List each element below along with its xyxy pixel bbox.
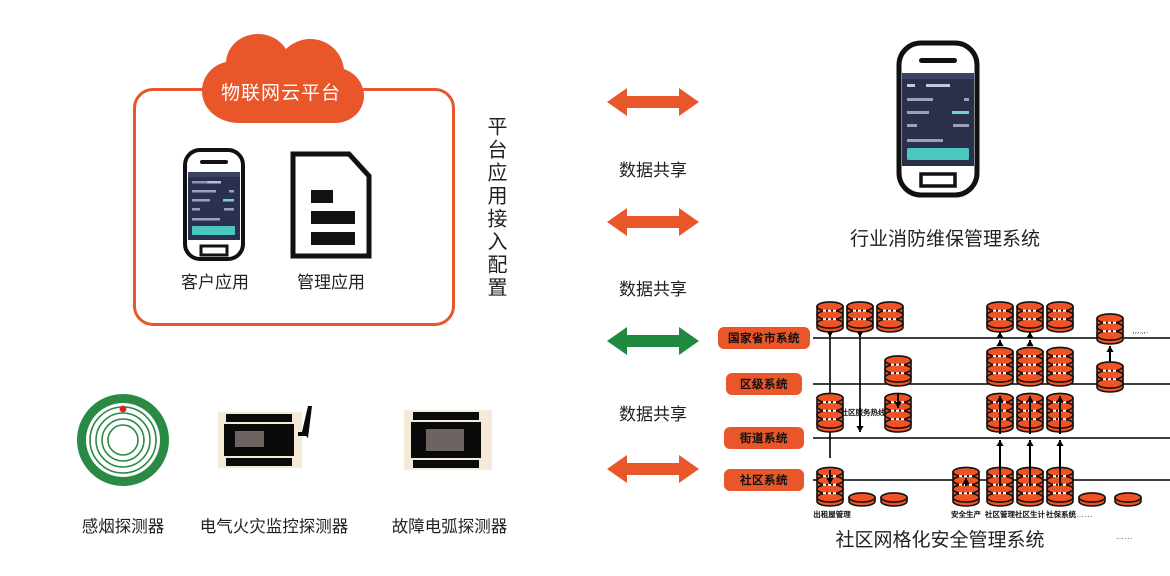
arrow-cm-up-head — [996, 440, 1003, 446]
cloud-label: 物联网云平台 — [196, 82, 366, 106]
arc-fault-detector-icon — [402, 408, 494, 472]
arrow-top-0-head — [826, 331, 833, 337]
maintenance-system-caption: 行业消防维保管理系统 — [810, 224, 1080, 251]
client-app-label: 客户应用 — [150, 268, 280, 293]
arrow-cm-up-head — [1056, 440, 1063, 446]
data-share-arrow-2 — [607, 206, 699, 238]
cloud-shape — [196, 33, 366, 126]
tier-chip-0[interactable]: 国家省市系统 — [718, 327, 810, 349]
data-share-label-2: 数据共享 — [593, 275, 713, 300]
tier-chip-2[interactable]: 街道系统 — [724, 427, 804, 449]
db-top-4 — [1017, 302, 1043, 332]
db-node-label-1: 出租屋管理 — [812, 510, 852, 519]
maintenance-system-phone-icon — [896, 40, 980, 198]
tier-chip-3[interactable]: 社区系统 — [724, 469, 804, 491]
diagram-canvas: 物联网云平台 客户应用 管理应用 平台 — [0, 0, 1170, 576]
arrow-sp2-head — [856, 426, 863, 432]
db-right-upper — [1097, 314, 1123, 344]
management-app-label: 管理应用 — [266, 268, 396, 293]
db-top-3 — [987, 302, 1013, 332]
tier-chip-1[interactable]: 区级系统 — [726, 373, 802, 395]
smoke-detector-label: 感烟探测器 — [53, 513, 193, 537]
grid-ellipsis-0: …… — [1132, 326, 1149, 335]
arrow-top-1-head — [856, 331, 863, 337]
grid-ellipsis-2: …… — [1116, 532, 1133, 541]
community-grid-diagram: …… 国家省市系统区级系统街道系统社区系统社区服务热线出租屋管理安全生产社区管理… — [718, 296, 1170, 511]
grid-ellipsis-1: …… — [1076, 510, 1093, 519]
db-district-0 — [885, 356, 911, 386]
grid-system-caption: 社区网格化安全管理系统 — [800, 525, 1080, 552]
data-share-arrow-1 — [607, 86, 699, 118]
db-node-label-0: 社区服务热线 — [840, 408, 886, 417]
arrow-up-top-1-head — [1026, 332, 1033, 338]
data-share-label-1: 数据共享 — [593, 156, 713, 181]
arrow-cm-up-head — [1026, 440, 1033, 446]
client-app-phone-icon — [183, 148, 245, 261]
electrical-fire-detector-icon — [216, 402, 326, 478]
arrow-dn-head — [1026, 340, 1033, 346]
db-node-label-5: 社保系统 — [1041, 510, 1081, 519]
data-share-label-3: 数据共享 — [593, 400, 713, 425]
db-community-3 — [953, 467, 979, 506]
data-share-arrow-4 — [607, 453, 699, 485]
db-top-2 — [877, 302, 903, 332]
db-top-0 — [817, 302, 843, 332]
db-community-2 — [881, 493, 907, 506]
data-share-arrow-3 — [607, 325, 699, 357]
db-district-3 — [1047, 347, 1073, 386]
arrow-up-top-0-head — [996, 332, 1003, 338]
db-top-5 — [1047, 302, 1073, 332]
platform-access-config-label: 平台应用接入配置 — [481, 108, 507, 308]
electrical-fire-detector-label: 电气火灾监控探测器 — [186, 513, 362, 537]
management-app-document-icon — [289, 150, 373, 260]
db-community-1 — [849, 493, 875, 506]
db-right-lower — [1097, 362, 1123, 392]
arrow-right-up-head — [1106, 346, 1113, 352]
db-community-8 — [1115, 493, 1141, 506]
arrow-dn-head — [996, 340, 1003, 346]
db-top-1 — [847, 302, 873, 332]
db-community-7 — [1079, 493, 1105, 506]
smoke-detector-icon — [68, 392, 178, 488]
arc-fault-detector-label: 故障电弧探测器 — [372, 513, 527, 537]
db-district-2 — [1017, 347, 1043, 386]
db-district-1 — [987, 347, 1013, 386]
